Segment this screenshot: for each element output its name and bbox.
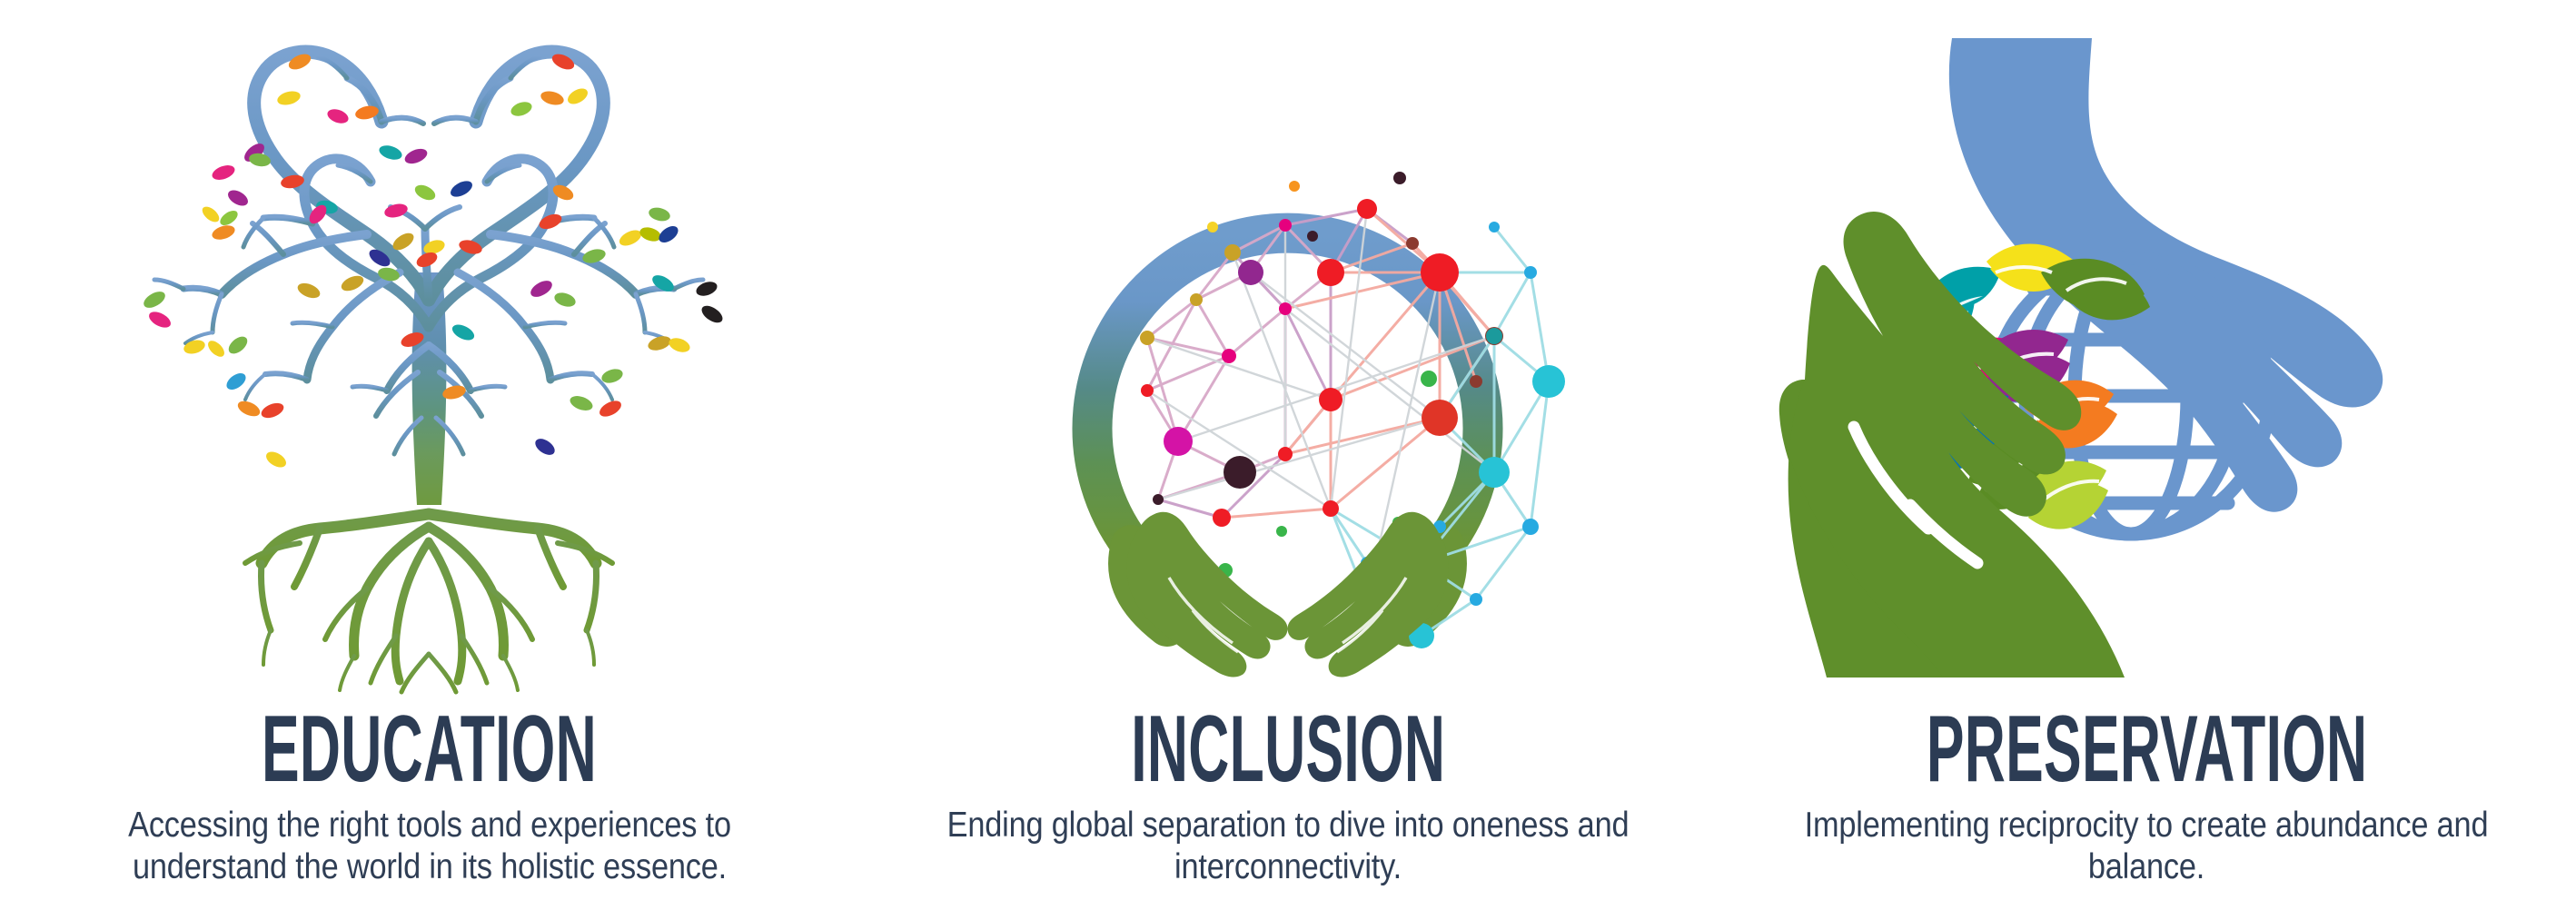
description-education: Accessing the right tools and experience…: [85, 805, 773, 888]
page-title-inclusion: INCLUSION: [1131, 710, 1445, 788]
page-title-education: EDUCATION: [262, 710, 597, 788]
three-pillar-graphic: EDUCATION Accessing the right tools and …: [0, 0, 2576, 910]
description-preservation: Implementing reciprocity to create abund…: [1803, 805, 2491, 888]
pillar-column-preservation: PRESERVATION Implementing reciprocity to…: [1718, 0, 2576, 910]
tree-root-system: [245, 495, 612, 692]
pillar-column-inclusion: INCLUSION Ending global separation to di…: [858, 0, 1717, 910]
cupping-hands: [1127, 512, 1449, 678]
hands-globe-leaves-icon: [1718, 0, 2576, 697]
pillar-column-education: EDUCATION Accessing the right tools and …: [0, 0, 858, 910]
hands-network-globe-icon: [858, 0, 1717, 697]
page-title-preservation: PRESERVATION: [1927, 710, 2368, 788]
heart-tree-icon: [0, 0, 858, 697]
description-inclusion: Ending global separation to dive into on…: [945, 805, 1632, 888]
